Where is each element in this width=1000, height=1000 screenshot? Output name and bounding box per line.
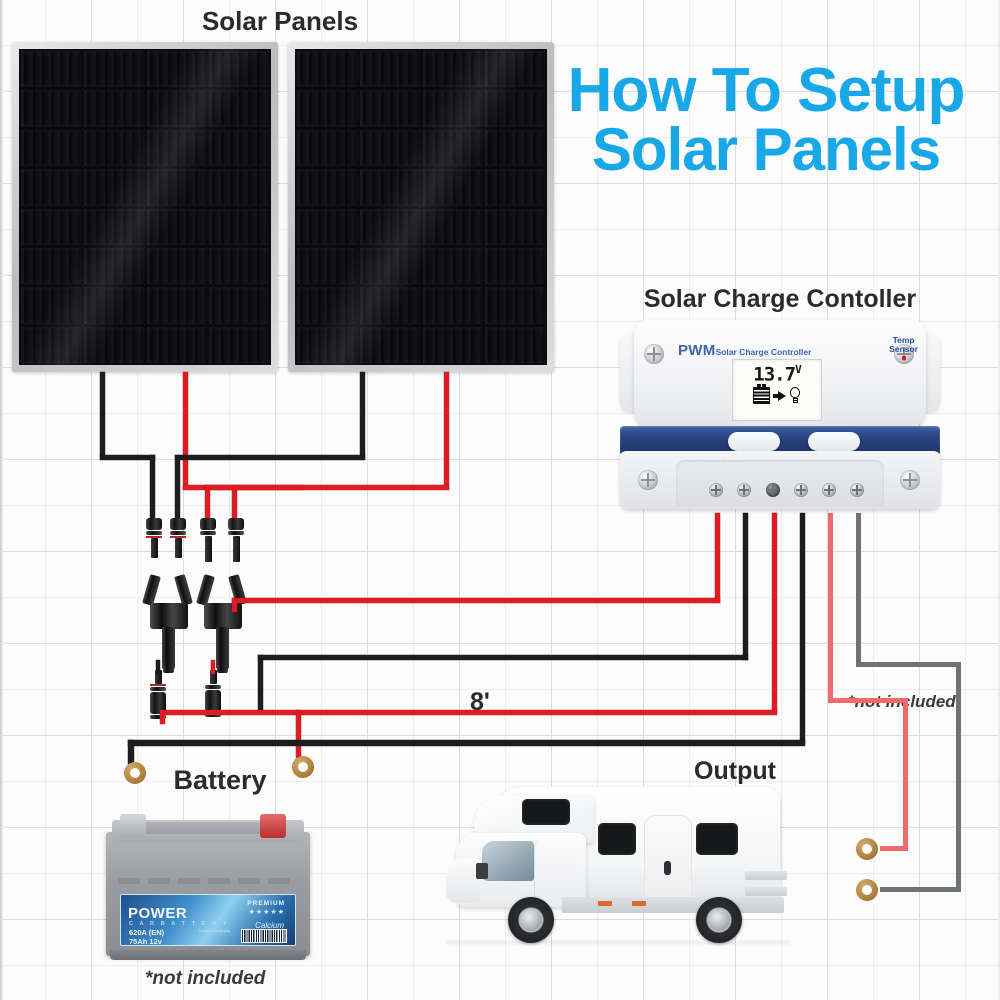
rv-window-mid: [598, 823, 636, 855]
wire-load-negative-to-terminal: [880, 887, 961, 892]
mc4-y-branch-positive: [198, 575, 250, 675]
rv-ground-shadow: [446, 941, 791, 944]
battery-post-negative: [120, 814, 146, 838]
wire-pv-negative-to-controller: [743, 513, 748, 660]
rv-motorhome: [446, 775, 791, 960]
solar-cell: [209, 130, 269, 166]
solar-cell: [209, 51, 269, 87]
rv-door-handle: [664, 861, 671, 875]
solar-cell: [147, 90, 207, 126]
solar-cell: [360, 209, 420, 245]
ring-terminal-load-negative: [856, 879, 882, 901]
wire-panel-a-negative-drop: [150, 455, 155, 523]
wire-load-positive-from-controller: [828, 513, 833, 701]
solar-cell: [21, 287, 81, 323]
lcd-voltage-reading: 13.7V: [733, 363, 821, 385]
solar-cell: [84, 90, 144, 126]
wire-pv-negative-run: [258, 655, 748, 660]
rv-front-wheel: [508, 897, 554, 943]
solar-cell: [360, 169, 420, 205]
battery-lid: [112, 820, 304, 842]
controller-menu-button[interactable]: [728, 432, 780, 451]
battery-icon: [753, 387, 770, 404]
label-solar-panels: Solar Panels: [130, 6, 430, 37]
ring-terminal-battery-negative: [124, 762, 150, 784]
solar-cell: [84, 327, 144, 363]
wire-branch-negative-tail: [156, 660, 160, 674]
battery-label: POWER C A R B A T T E R Y PREMIUM ★★★★★ …: [120, 894, 296, 946]
battery-base: [110, 950, 306, 960]
solar-cell: [209, 287, 269, 323]
rv-rear-wheel: [696, 897, 742, 943]
solar-cell: [84, 248, 144, 284]
battery-brand: POWER: [128, 905, 187, 922]
battery-post-positive: [260, 814, 286, 838]
controller-brand-pwm: PWM: [678, 342, 716, 359]
wire-panel-b-positive-horz: [205, 485, 449, 490]
title-line-1: How To Setup: [540, 62, 992, 121]
solar-cell: [147, 169, 207, 205]
solar-cell: [209, 327, 269, 363]
solar-cell: [297, 248, 357, 284]
lcd-voltage-unit: V: [795, 363, 801, 376]
wire-battery-positive-drop: [296, 710, 301, 758]
solar-cell: [209, 90, 269, 126]
arrow-right-icon: [778, 391, 786, 401]
lightbulb-icon: [789, 387, 801, 404]
solar-cell: [360, 248, 420, 284]
solar-cell: [147, 130, 207, 166]
solar-cell: [360, 327, 420, 363]
mc4-connector-negative-b: [170, 518, 186, 558]
mc4-connector-negative-a: [146, 518, 162, 558]
rv-window-overcab: [522, 799, 570, 825]
solar-cell: [209, 209, 269, 245]
mc4-connector-positive-b: [228, 518, 244, 562]
solar-cell: [21, 51, 81, 87]
solar-cell: [360, 287, 420, 323]
ring-terminal-battery-positive: [292, 756, 318, 778]
mc4-connector-positive-a: [200, 518, 216, 562]
solar-cell: [423, 209, 483, 245]
wire-battery-positive-from-controller: [772, 513, 777, 713]
rv-reflector: [632, 901, 646, 906]
rv-lower-skirt: [562, 897, 784, 913]
solar-cell: [423, 248, 483, 284]
solar-cell: [84, 130, 144, 166]
wire-battery-negative-run: [128, 740, 805, 746]
solar-cell: [147, 287, 207, 323]
temp-sensor-indicator: Temp Sensor: [889, 336, 918, 360]
battery-brand-subtitle: C A R B A T T E R Y: [129, 921, 229, 927]
wire-load-positive-to-terminal: [880, 846, 908, 851]
rv-nose: [446, 859, 480, 903]
solar-cell: [423, 130, 483, 166]
controller-branding: PWMSolar Charge Controller: [678, 342, 811, 360]
solar-cell: [21, 90, 81, 126]
barcode-icon: [241, 929, 287, 943]
solar-cell: [147, 209, 207, 245]
controller-enter-button[interactable]: [808, 432, 860, 451]
diagram-canvas: How To Setup Solar Panels Solar Panels S…: [0, 0, 1000, 1000]
wire-load-negative-horz: [856, 662, 961, 667]
solar-cell: [485, 287, 545, 323]
label-solar-charge-controller: Solar Charge Contoller: [610, 285, 950, 314]
wire-pv-positive-riser: [232, 598, 237, 612]
battery-fine-print: Creation Recharging: [199, 929, 230, 934]
rv-vent-lower: [745, 887, 787, 896]
temp-sensor-label-line2: Sensor: [889, 345, 918, 354]
solar-cell: [209, 169, 269, 205]
battery-premium-badge: PREMIUM: [247, 900, 285, 907]
battery-unit: POWER C A R B A T T E R Y PREMIUM ★★★★★ …: [106, 814, 310, 960]
solar-cell: [84, 169, 144, 205]
solar-cell: [485, 130, 545, 166]
page-title: How To Setup Solar Panels: [540, 62, 992, 178]
wire-panel-a-negative-horz: [100, 455, 155, 460]
terminal-pv-positive[interactable]: [709, 483, 723, 497]
lcd-voltage-value: 13.7: [753, 363, 795, 385]
rv-window-rear: [696, 823, 738, 855]
battery-vent-strip: [118, 878, 298, 884]
wire-load-positive-drop: [903, 698, 908, 850]
solar-cell: [21, 327, 81, 363]
solar-cell: [84, 209, 144, 245]
solar-cell: [360, 90, 420, 126]
solar-cell: [360, 51, 420, 87]
left-edge-shadow: [0, 0, 3, 1000]
battery-spec-capacity: 75Ah 12v: [129, 937, 162, 946]
solar-cell: [485, 209, 545, 245]
solar-cell: [297, 209, 357, 245]
solar-cell: [485, 327, 545, 363]
wire-pv-negative-riser: [258, 655, 263, 710]
solar-cell: [423, 169, 483, 205]
phillips-screw-icon: [638, 470, 658, 490]
label-battery: Battery: [140, 765, 300, 796]
solar-cell: [423, 51, 483, 87]
battery-lid-inset: [142, 822, 262, 834]
controller-terminal-legend: ······: [694, 458, 866, 468]
terminal-battery-negative[interactable]: [794, 483, 808, 497]
phillips-screw-icon: [900, 470, 920, 490]
solar-cell: [297, 169, 357, 205]
wire-battery-positive-run: [160, 710, 777, 715]
solar-cell: [485, 248, 545, 284]
wire-load-negative-from-controller: [856, 513, 861, 665]
controller-brand-subtitle: Solar Charge Controller: [716, 347, 812, 357]
rv-cab-door: [534, 839, 578, 901]
wire-battery-negative-drop: [128, 740, 134, 764]
ring-terminal-load-positive: [856, 838, 882, 860]
solar-cell: [297, 327, 357, 363]
wire-pv-positive-run: [232, 598, 720, 603]
solar-cell: [485, 51, 545, 87]
solar-cell: [297, 130, 357, 166]
solar-cell: [84, 287, 144, 323]
solar-cell: [297, 51, 357, 87]
wire-panel-b-negative-drop: [175, 455, 180, 523]
lcd-icon-row: [733, 387, 821, 404]
solar-cell: [423, 327, 483, 363]
wire-panel-a-negative-vert: [100, 372, 105, 459]
wire-pv-positive-to-controller: [715, 513, 720, 603]
wire-battery-negative-from-controller: [800, 513, 805, 743]
solar-cell: [147, 248, 207, 284]
solar-panel-right: [288, 42, 554, 372]
solar-cell: [485, 169, 545, 205]
wire-load-negative-drop: [956, 662, 961, 891]
solar-cell: [485, 90, 545, 126]
rv-windshield: [482, 841, 534, 881]
solar-cell: [147, 51, 207, 87]
solar-cell: [297, 90, 357, 126]
wire-panel-a-positive-vert: [183, 372, 188, 489]
rv-vent-upper: [745, 871, 787, 880]
wire-panel-b-positive-vert: [444, 372, 449, 489]
solar-cell: [21, 130, 81, 166]
terminal-pv-negative[interactable]: [737, 483, 751, 497]
solar-cell: [21, 169, 81, 205]
battery-spec-cca: 620A (EN): [129, 928, 164, 937]
solar-cell: [147, 327, 207, 363]
phillips-screw-icon: [644, 344, 664, 364]
solar-cell: [360, 130, 420, 166]
solar-charge-controller[interactable]: PWMSolar Charge Controller Temp Sensor 1…: [620, 320, 940, 515]
solar-cell: [423, 287, 483, 323]
wire-battery-positive-left-stub: [160, 710, 165, 724]
status-led-icon: [902, 356, 906, 360]
title-line-2: Solar Panels: [540, 121, 992, 178]
solar-cell: [423, 90, 483, 126]
solar-panel-left-cells: [19, 49, 271, 365]
battery-star-rating: ★★★★★: [249, 908, 285, 916]
wire-panel-b-negative-horz: [175, 455, 365, 460]
wire-branch-positive-tail: [211, 660, 215, 674]
rv-reflector: [598, 901, 612, 906]
solar-panel-right-cells: [295, 49, 547, 365]
solar-cell: [297, 287, 357, 323]
solar-panel-left: [12, 42, 278, 372]
solar-cell: [84, 51, 144, 87]
controller-lcd-display: 13.7V: [732, 359, 822, 421]
rv-side-mirror: [476, 863, 488, 879]
battery-case: POWER C A R B A T T E R Y PREMIUM ★★★★★ …: [106, 832, 310, 956]
terminal-load-negative[interactable]: [850, 483, 864, 497]
mc4-y-branch-negative: [144, 575, 196, 675]
solar-cell: [21, 209, 81, 245]
note-battery-not-included: *not included: [145, 968, 265, 990]
solar-cell: [21, 248, 81, 284]
terminal-battery-positive[interactable]: [766, 483, 780, 497]
wire-panel-b-negative-vert: [360, 372, 365, 459]
solar-cell: [209, 248, 269, 284]
wire-load-positive-horz: [828, 698, 908, 703]
terminal-load-positive[interactable]: [822, 483, 836, 497]
